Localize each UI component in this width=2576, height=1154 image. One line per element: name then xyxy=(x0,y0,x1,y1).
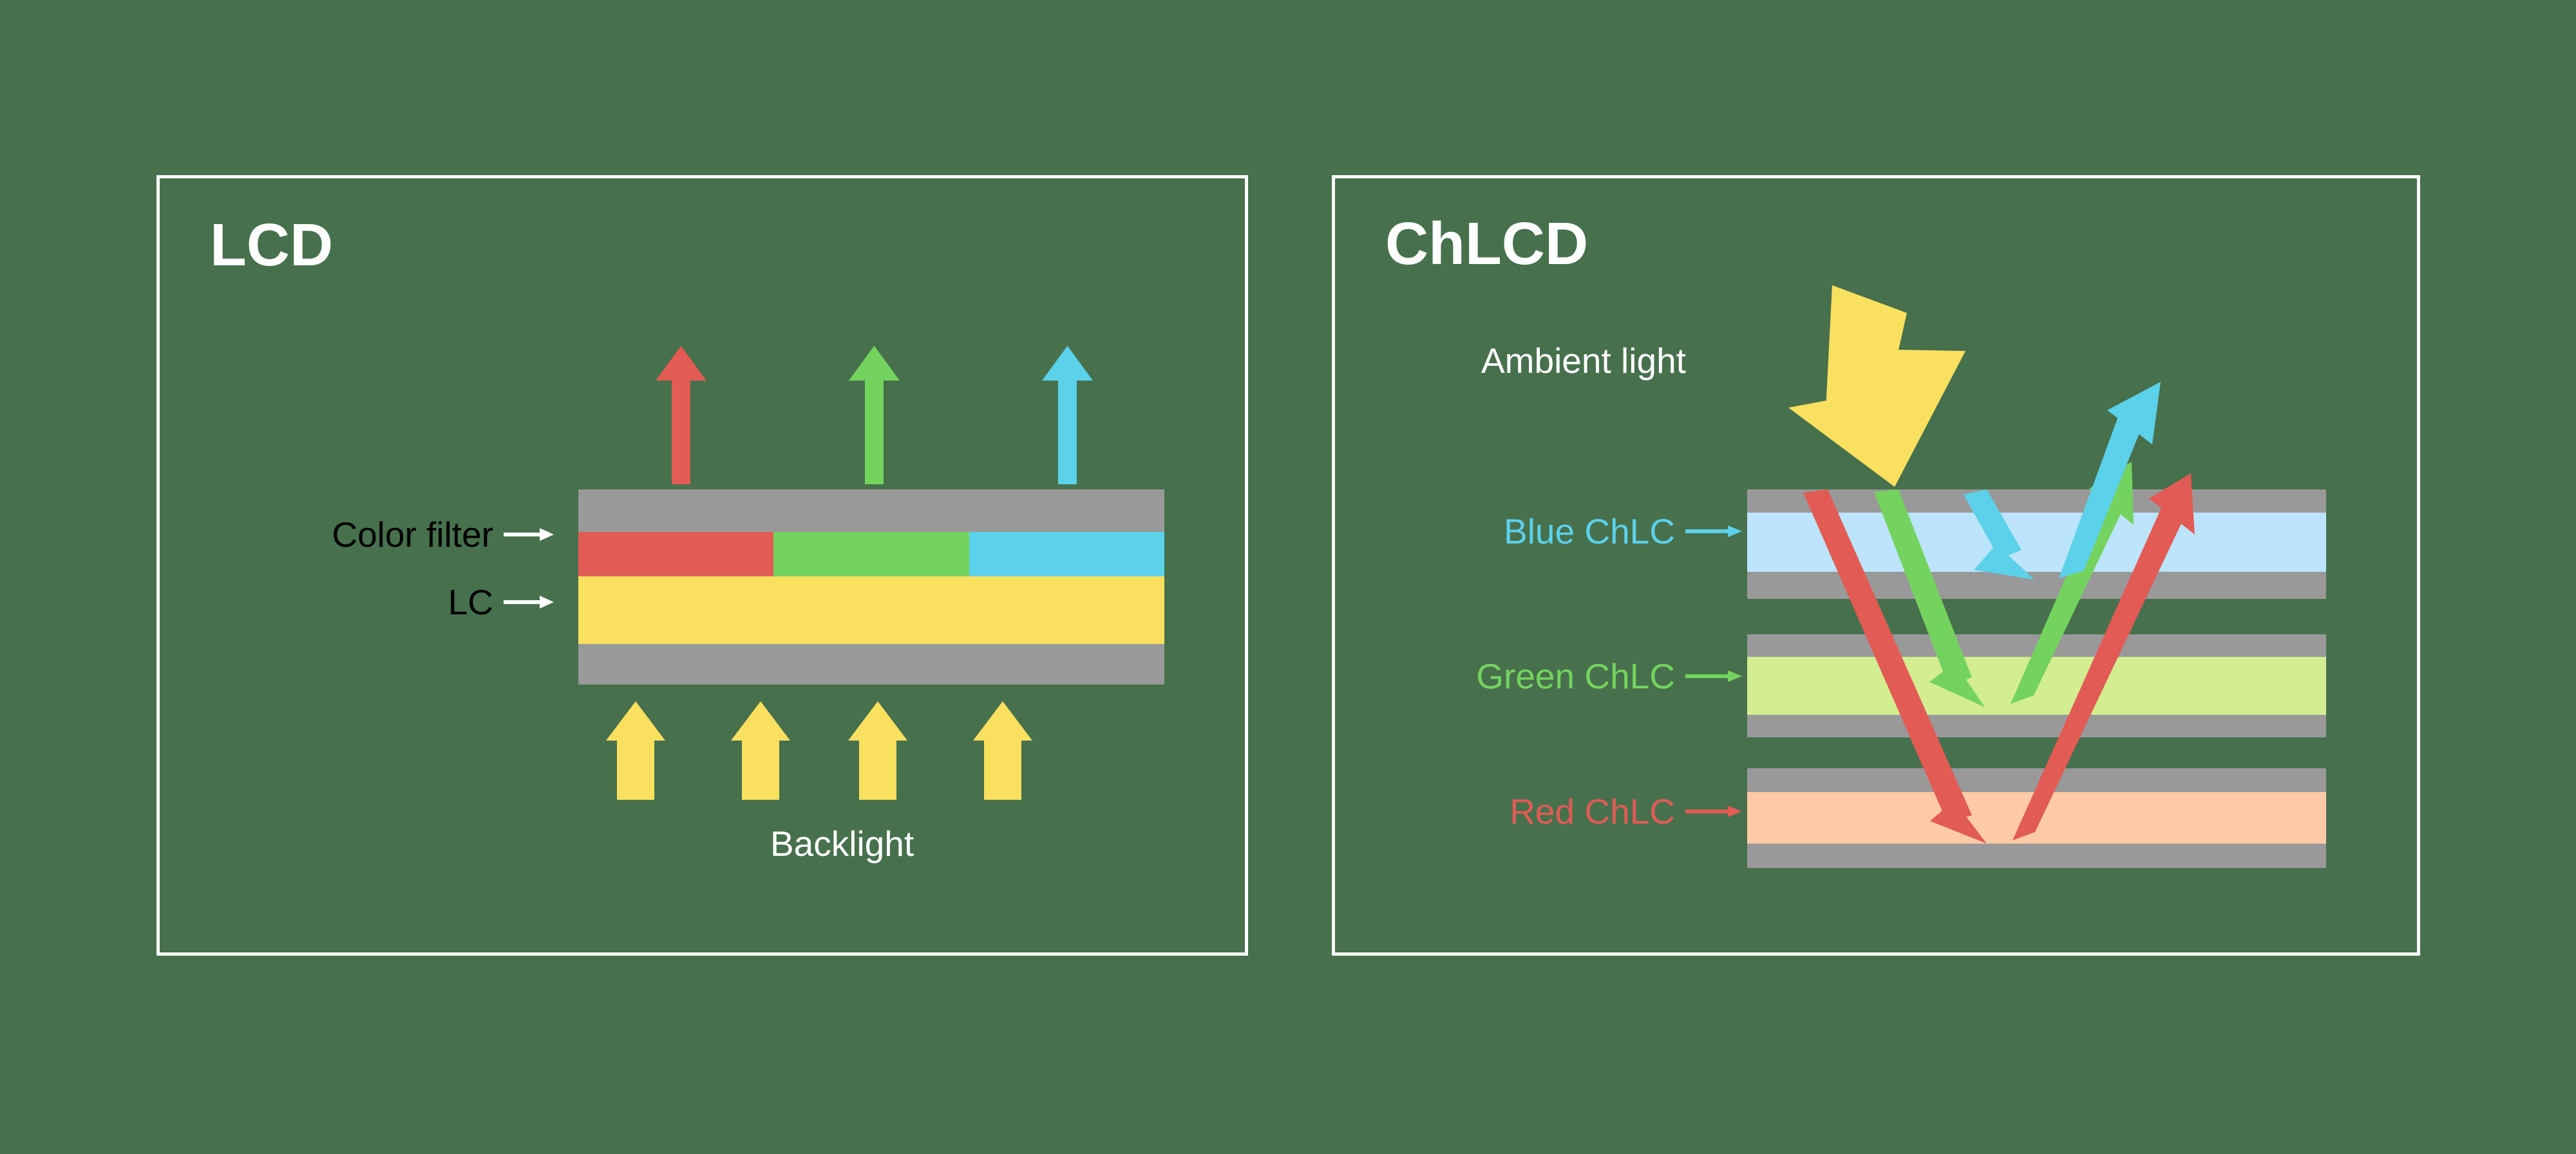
lcd-color-filter-blue xyxy=(969,532,1164,576)
blue-chlc-top-electrode xyxy=(1747,489,2326,513)
lcd-color-filter-green xyxy=(773,532,969,576)
lcd-color-filter-red xyxy=(578,532,773,576)
lc-label: LC xyxy=(448,585,493,620)
color-filter-label: Color filter xyxy=(332,517,493,553)
blue-chlc-bottom-electrode xyxy=(1747,572,2326,599)
ambient-light-label: Ambient light xyxy=(1481,340,1686,381)
green-chlc-layer xyxy=(1747,657,2326,715)
red-chlc-label: Red ChLC xyxy=(1510,794,1675,829)
green-chlc-label-row: Green ChLC xyxy=(1404,657,1742,695)
lcd-liquid-crystal-layer xyxy=(578,576,1164,644)
green-chlc-bottom-electrode xyxy=(1747,715,2326,737)
lcd-panel-title: LCD xyxy=(210,211,333,279)
blue-chlc-label-row: Blue ChLC xyxy=(1417,512,1742,551)
diagram-canvas: LCD Color filter LC xyxy=(0,0,2576,1154)
lc-leader-arrow-icon xyxy=(504,594,554,610)
color-filter-leader-arrow-icon xyxy=(504,526,554,543)
backlight-label: Backlight xyxy=(770,823,914,864)
blue-chlc-leader-arrow-icon xyxy=(1685,523,1742,540)
lcd-layer-stack xyxy=(578,489,1164,685)
green-chlc-top-electrode xyxy=(1747,634,2326,657)
red-chlc-top-electrode xyxy=(1747,768,2326,792)
green-chlc-label: Green ChLC xyxy=(1476,659,1675,694)
lcd-bottom-electrode xyxy=(578,644,1164,685)
blue-chlc-label: Blue ChLC xyxy=(1504,514,1675,549)
blue-chlc-layer xyxy=(1747,513,2326,572)
green-chlc-leader-arrow-icon xyxy=(1685,668,1742,685)
lc-label-row: LC xyxy=(258,583,554,621)
red-chlc-layer xyxy=(1747,792,2326,844)
color-filter-label-row: Color filter xyxy=(258,515,554,554)
red-chlc-leader-arrow-icon xyxy=(1685,803,1742,820)
red-chlc-label-row: Red ChLC xyxy=(1417,792,1742,831)
red-chlc-bottom-electrode xyxy=(1747,844,2326,868)
chlcd-panel-title: ChLCD xyxy=(1385,209,1588,278)
chlcd-layer-stack xyxy=(1747,489,2326,868)
lcd-top-electrode xyxy=(578,489,1164,532)
